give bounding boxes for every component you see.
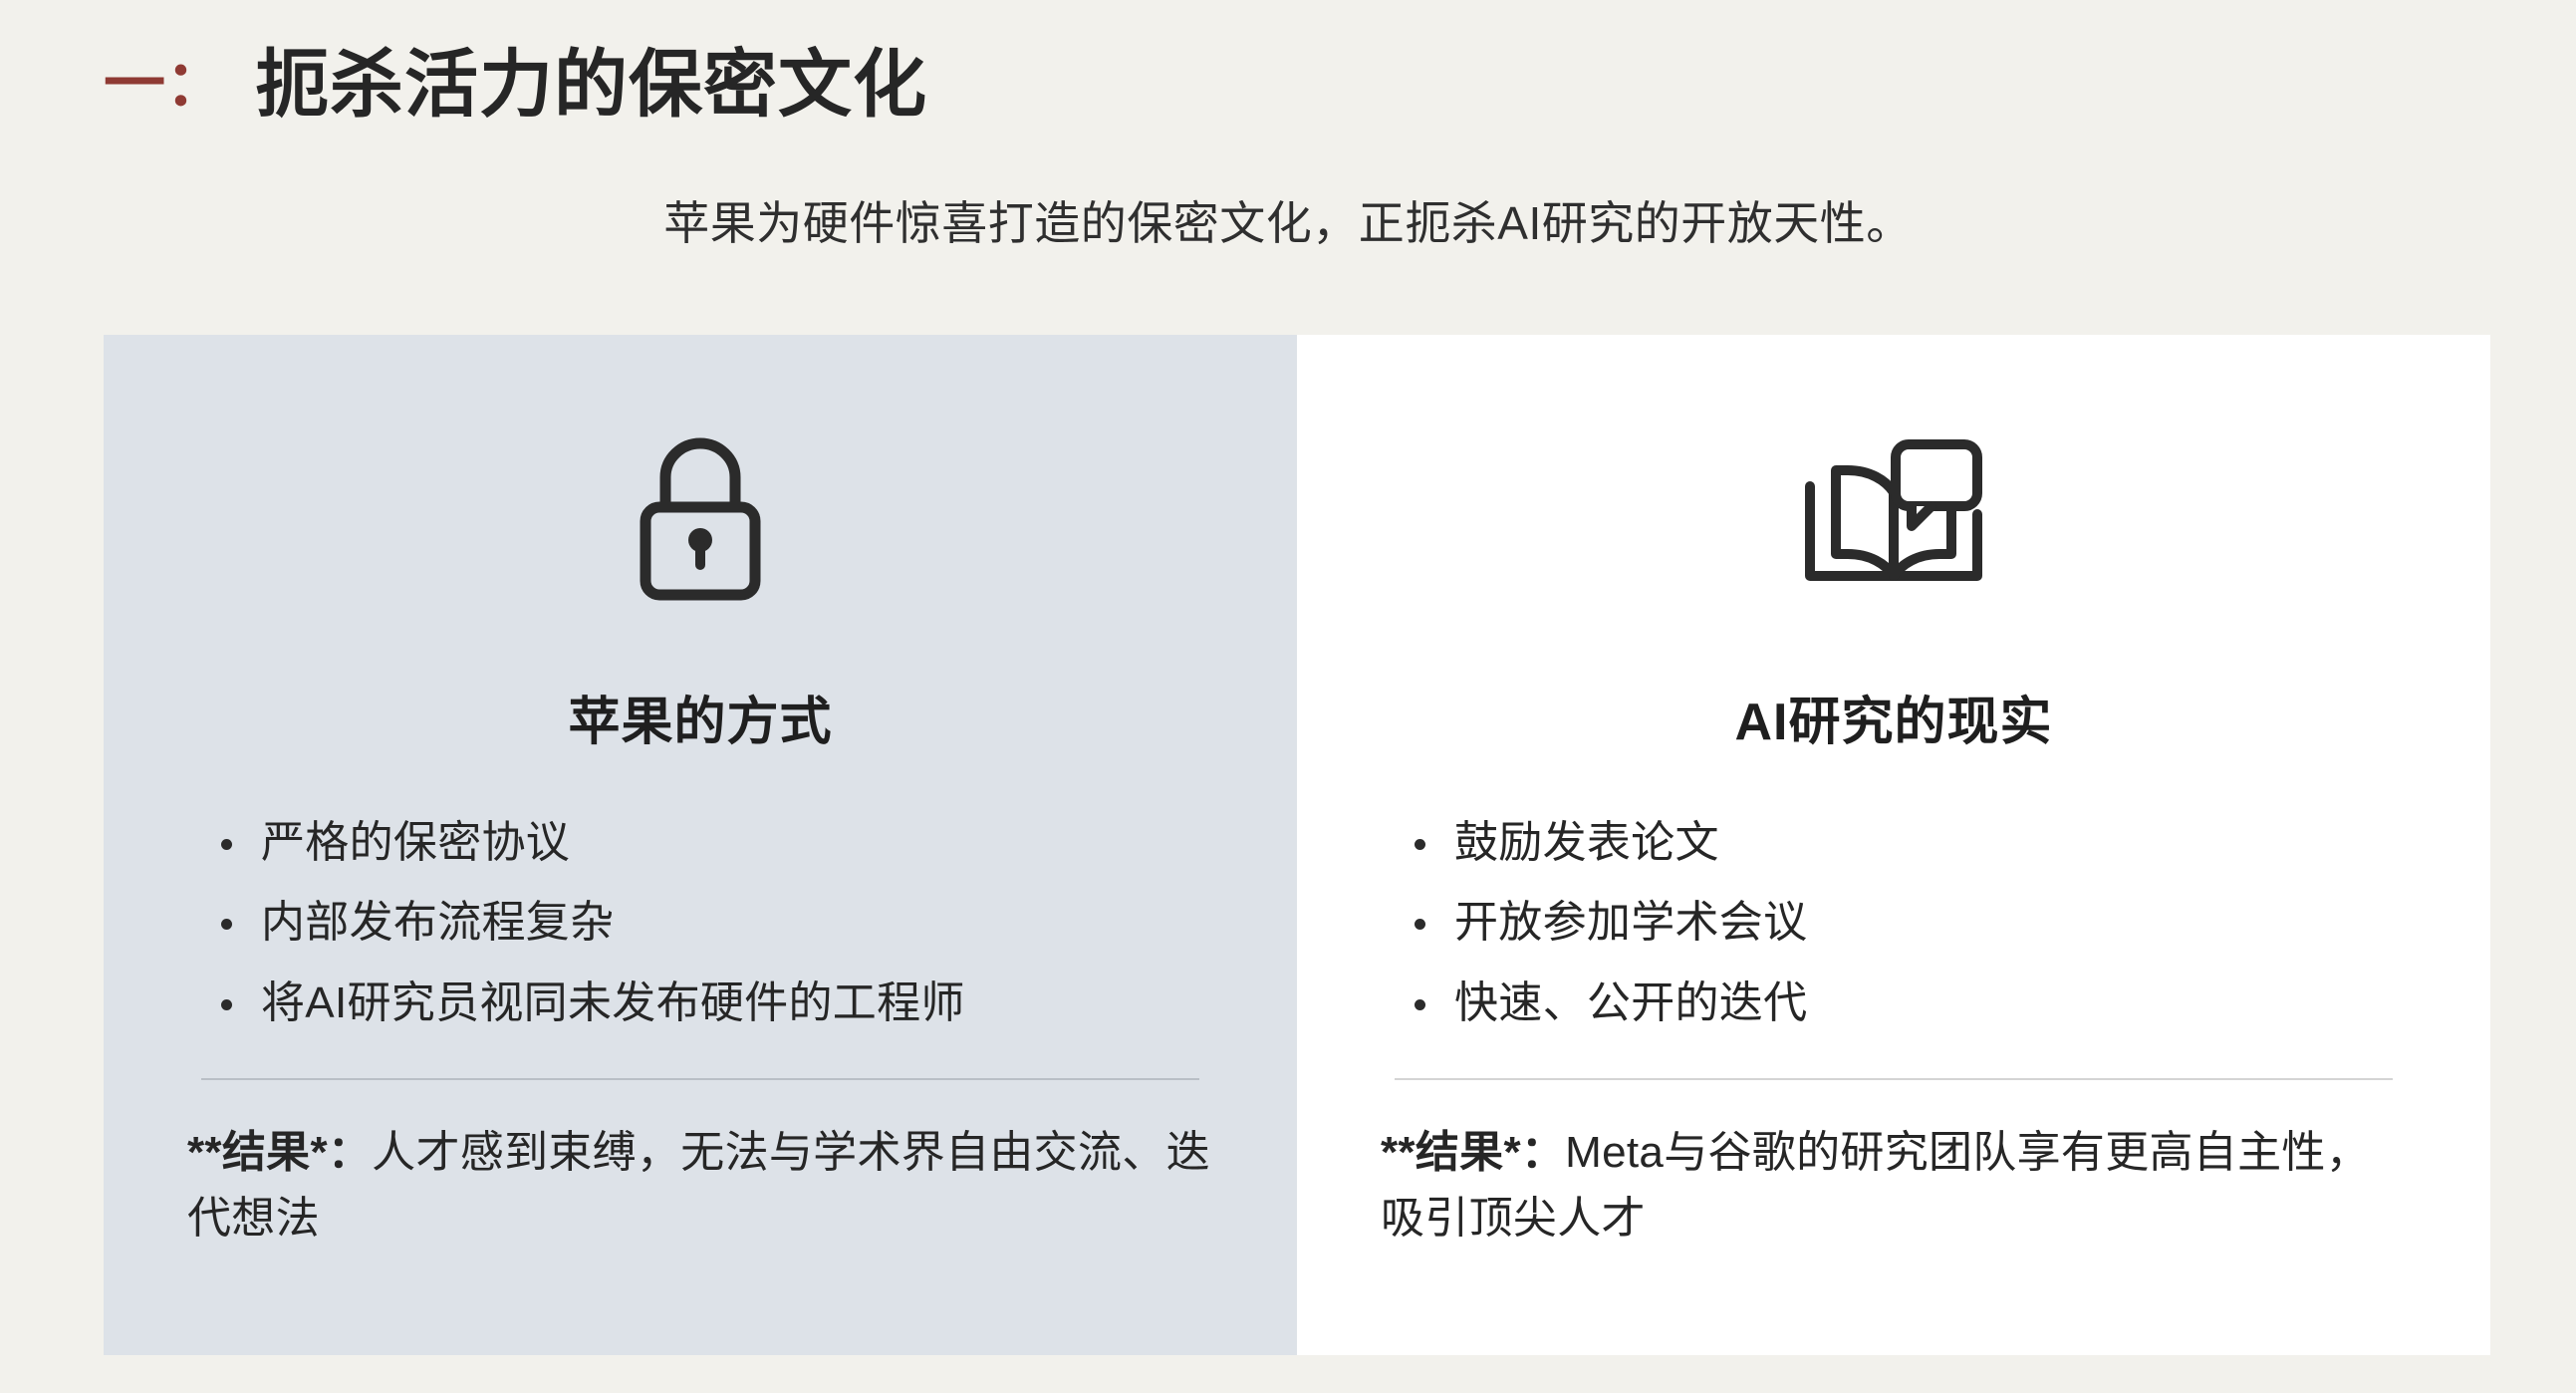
open-book-speech-bubble-icon — [1375, 405, 2413, 634]
card-divider — [201, 1078, 1199, 1080]
subtitle-text: 苹果为硬件惊喜打造的保密文化，正扼杀AI研究的开放天性。 — [0, 187, 2576, 253]
slide-header: 一： 扼杀活力的保密文化 苹果为硬件惊喜打造的保密文化，正扼杀AI研究的开放天性… — [0, 0, 2576, 139]
title-main-label: 扼杀活力的保密文化 — [255, 48, 927, 122]
list-item: 将AI研究员视同未发布硬件的工程师 — [217, 973, 1219, 1034]
card-bullet-list: 鼓励发表论文 开放参加学术会议 快速、公开的迭代 — [1375, 812, 2413, 1052]
card-result: **结果*：Meta与谷歌的研究团队享有更高自主性，吸引顶尖人才 — [1375, 1120, 2413, 1252]
list-item: 快速、公开的迭代 — [1411, 973, 2413, 1034]
card-divider — [1395, 1078, 2393, 1080]
result-label: **结果*： — [187, 1128, 372, 1177]
list-item: 开放参加学术会议 — [1411, 892, 2413, 954]
result-label: **结果*： — [1381, 1128, 1565, 1177]
card-apple-way: 苹果的方式 严格的保密协议 内部发布流程复杂 将AI研究员视同未发布硬件的工程师… — [104, 335, 1297, 1355]
lock-icon — [181, 405, 1219, 634]
card-heading: AI研究的现实 — [1375, 680, 2413, 754]
list-item: 内部发布流程复杂 — [217, 892, 1219, 954]
card-heading: 苹果的方式 — [181, 680, 1219, 754]
card-result: **结果*：人才感到束缚，无法与学术界自由交流、迭代想法 — [181, 1120, 1219, 1252]
slide-root: 一： 扼杀活力的保密文化 苹果为硬件惊喜打造的保密文化，正扼杀AI研究的开放天性… — [0, 0, 2576, 1393]
title-index-label: 一： — [104, 54, 227, 116]
list-item: 鼓励发表论文 — [1411, 812, 2413, 874]
page-title: 一： 扼杀活力的保密文化 — [0, 0, 2576, 139]
card-ai-research-reality: AI研究的现实 鼓励发表论文 开放参加学术会议 快速、公开的迭代 **结果*：M… — [1297, 335, 2490, 1355]
comparison-cards: 苹果的方式 严格的保密协议 内部发布流程复杂 将AI研究员视同未发布硬件的工程师… — [104, 335, 2490, 1355]
list-item: 严格的保密协议 — [217, 812, 1219, 874]
card-bullet-list: 严格的保密协议 内部发布流程复杂 将AI研究员视同未发布硬件的工程师 — [181, 812, 1219, 1052]
